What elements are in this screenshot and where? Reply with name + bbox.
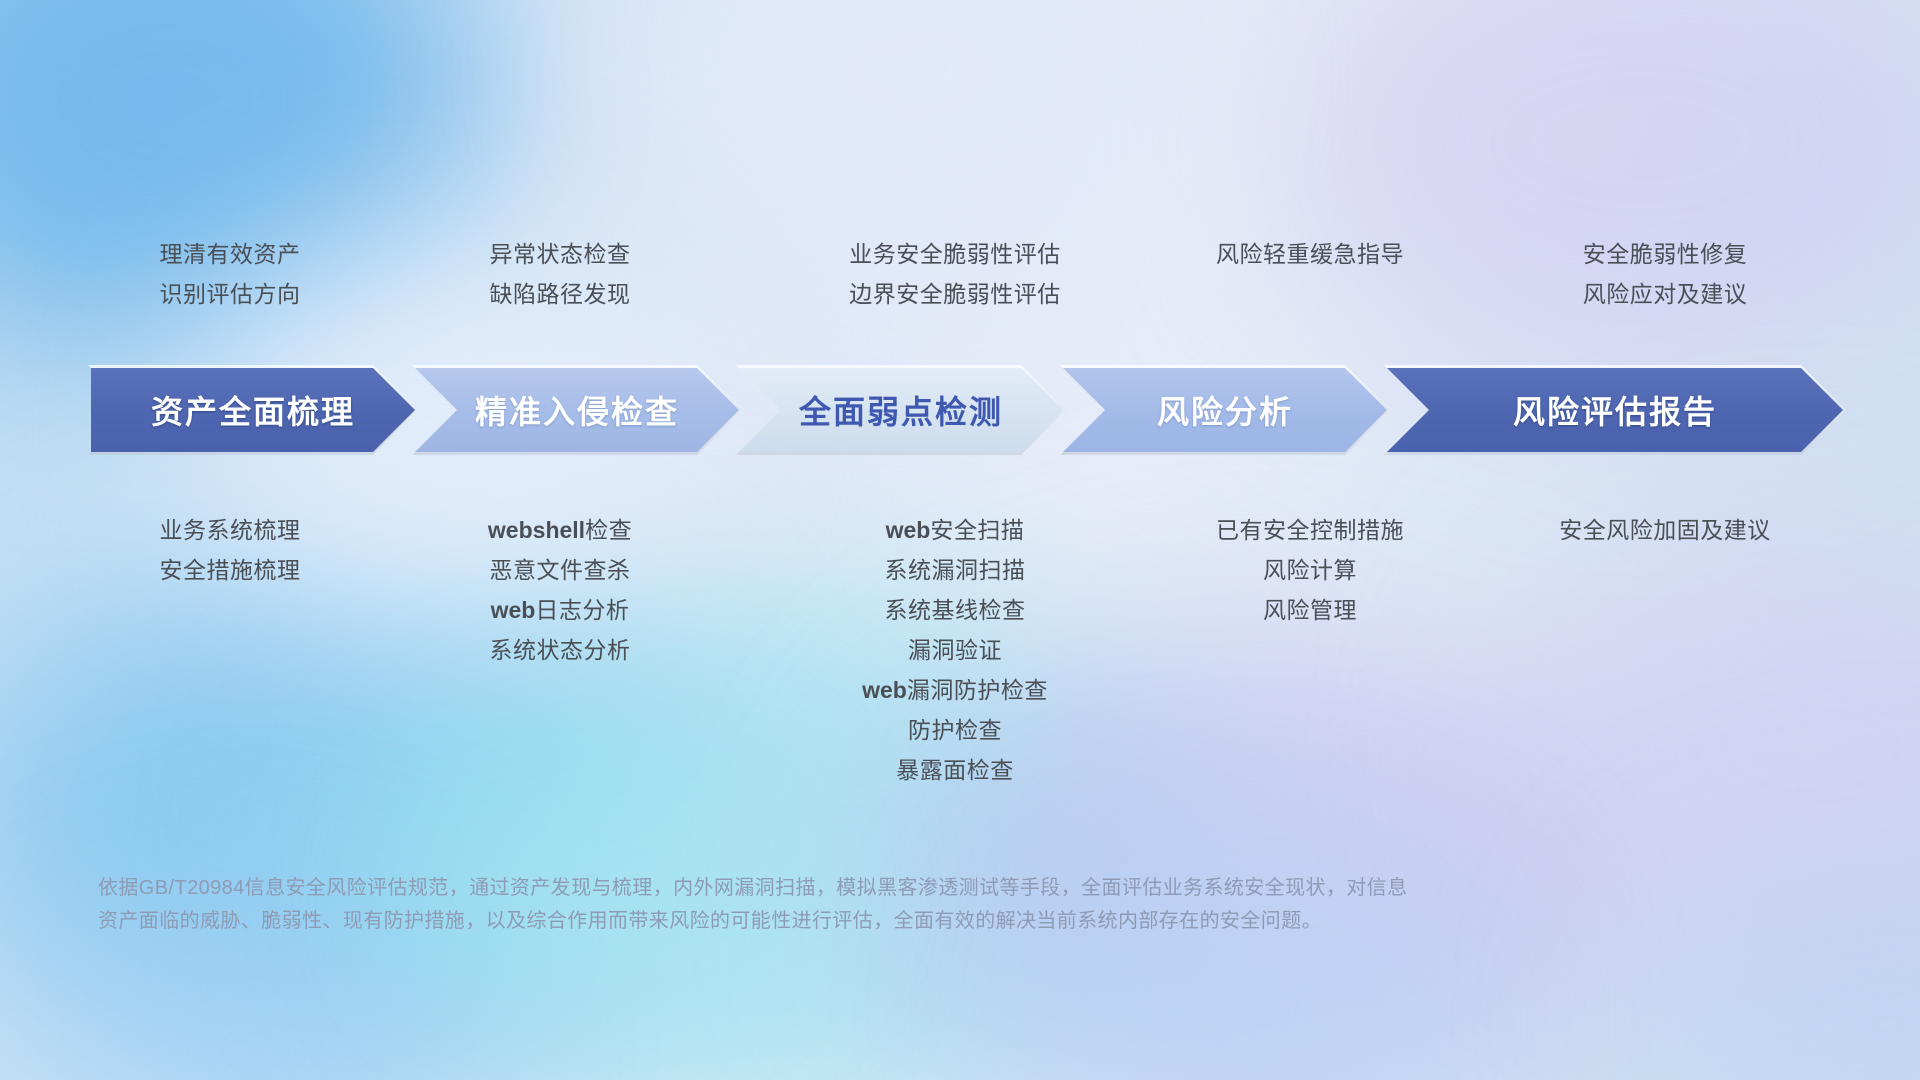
- stage-arrow-5[interactable]: 风险评估报告: [1387, 368, 1843, 452]
- stage-arrow-label: 精准入侵检查: [475, 387, 679, 433]
- bottom-item: 防护检查: [770, 710, 1140, 750]
- top-item: 风险应对及建议: [1480, 274, 1850, 314]
- bottom-item: 风险管理: [1130, 590, 1490, 630]
- bottom-item: web安全扫描: [770, 510, 1140, 550]
- stage-arrow-4[interactable]: 风险分析: [1063, 368, 1387, 452]
- bottom-item: web日志分析: [410, 590, 710, 630]
- stage-top-items-1: 理清有效资产 识别评估方向: [60, 234, 400, 314]
- bottom-item: 系统基线检查: [770, 590, 1140, 630]
- bottom-item: 系统漏洞扫描: [770, 550, 1140, 590]
- bottom-item: 已有安全控制措施: [1130, 510, 1490, 550]
- top-item: 风险轻重缓急指导: [1130, 234, 1490, 274]
- bottom-item: 业务系统梳理: [60, 510, 400, 550]
- bottom-item: 安全风险加固及建议: [1480, 510, 1850, 550]
- bottom-item: 风险计算: [1130, 550, 1490, 590]
- footer-description: 依据GB/T20984信息安全风险评估规范，通过资产发现与梳理，内外网漏洞扫描，…: [98, 872, 1718, 938]
- stage-top-items-3: 业务安全脆弱性评估 边界安全脆弱性评估: [770, 234, 1140, 314]
- bottom-item: web漏洞防护检查: [770, 670, 1140, 710]
- process-arrow-band: 资产全面梳理 精准入侵检查 全面弱点检测 风险分析 风险评估报告: [0, 368, 1920, 452]
- bottom-item: webshell检查: [410, 510, 710, 550]
- stage-bottom-items-1: 业务系统梳理 安全措施梳理: [60, 510, 400, 590]
- top-item: 缺陷路径发现: [410, 274, 710, 314]
- stage-arrow-2[interactable]: 精准入侵检查: [415, 368, 739, 452]
- stage-bottom-items-4: 已有安全控制措施 风险计算 风险管理: [1130, 510, 1490, 630]
- process-diagram: 理清有效资产 识别评估方向 异常状态检查 缺陷路径发现 业务安全脆弱性评估 边界…: [0, 0, 1920, 1080]
- stage-arrow-label: 风险分析: [1157, 387, 1293, 433]
- stage-bottom-items-3: web安全扫描 系统漏洞扫描 系统基线检查 漏洞验证 web漏洞防护检查 防护检…: [770, 510, 1140, 790]
- bottom-item: 安全措施梳理: [60, 550, 400, 590]
- stage-arrow-3[interactable]: 全面弱点检测: [739, 368, 1063, 452]
- bottom-item: 系统状态分析: [410, 630, 710, 670]
- bottom-item: 暴露面检查: [770, 750, 1140, 790]
- top-item: 业务安全脆弱性评估: [770, 234, 1140, 274]
- stage-arrow-label: 全面弱点检测: [799, 387, 1003, 433]
- stage-arrow-1[interactable]: 资产全面梳理: [91, 368, 415, 452]
- footer-line-1: 依据GB/T20984信息安全风险评估规范，通过资产发现与梳理，内外网漏洞扫描，…: [98, 872, 1718, 905]
- top-item: 异常状态检查: [410, 234, 710, 274]
- stage-top-items-4: 风险轻重缓急指导: [1130, 234, 1490, 274]
- top-item: 理清有效资产: [60, 234, 400, 274]
- top-item: 边界安全脆弱性评估: [770, 274, 1140, 314]
- top-item: 安全脆弱性修复: [1480, 234, 1850, 274]
- stage-top-items-2: 异常状态检查 缺陷路径发现: [410, 234, 710, 314]
- bottom-item: 恶意文件查杀: [410, 550, 710, 590]
- stage-arrow-label: 风险评估报告: [1513, 387, 1717, 433]
- stage-bottom-items-5: 安全风险加固及建议: [1480, 510, 1850, 550]
- top-item: 识别评估方向: [60, 274, 400, 314]
- stage-top-items-5: 安全脆弱性修复 风险应对及建议: [1480, 234, 1850, 314]
- footer-line-2: 资产面临的威胁、脆弱性、现有防护措施，以及综合作用而带来风险的可能性进行评估，全…: [98, 905, 1718, 938]
- bottom-item: 漏洞验证: [770, 630, 1140, 670]
- stage-arrow-label: 资产全面梳理: [151, 387, 355, 433]
- stage-bottom-items-2: webshell检查 恶意文件查杀 web日志分析 系统状态分析: [410, 510, 710, 670]
